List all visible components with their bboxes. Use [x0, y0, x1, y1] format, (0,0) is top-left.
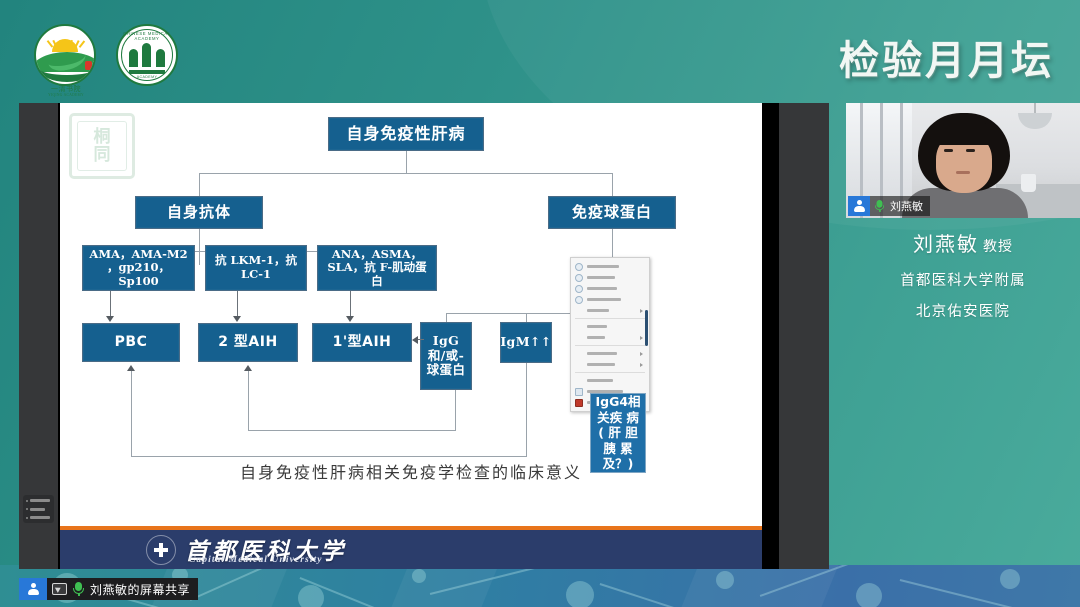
- chevron-right-icon: [640, 352, 643, 356]
- screen-share-window: 桐 同 自身免疫性肝病 自身抗体 免疫球蛋白 AMA，AMA-M2 ，gp210…: [19, 103, 829, 569]
- list-icon[interactable]: [23, 495, 54, 523]
- yiqing-academy-logo-icon: 一清书院 YIQING ACADEMY: [30, 24, 102, 98]
- connector: [199, 251, 200, 265]
- connector: [131, 371, 132, 456]
- menu-scrollbar[interactable]: [645, 310, 648, 346]
- blank-icon: [575, 350, 583, 358]
- speaker-affiliation-line2: 北京佑安医院: [846, 300, 1080, 321]
- screen-share-status-bar: 刘燕敏的屏幕共享: [19, 578, 198, 600]
- connector: [237, 291, 238, 318]
- chevron-right-icon: [640, 363, 643, 367]
- slide-caption: 自身免疫性肝病相关免疫学检查的临床意义: [60, 459, 762, 483]
- flow-node-immunoglobulin: 免疫球蛋白: [548, 196, 676, 229]
- slide-footer: 首都医科大学 Capital Medical University: [60, 526, 762, 569]
- logo-group: 一清书院 YIQING ACADEMY CHINESE MEDICAL ACAD…: [30, 24, 178, 98]
- connector: [199, 173, 612, 174]
- shape-icon: [575, 296, 583, 304]
- context-menu-item[interactable]: [571, 283, 649, 294]
- connector: [248, 371, 249, 430]
- page-header: 一清书院 YIQING ACADEMY CHINESE MEDICAL ACAD…: [0, 0, 1080, 100]
- context-menu-item[interactable]: [571, 321, 649, 332]
- medical-logo-arc-text: CHINESE MEDICAL ACADEMY: [116, 31, 178, 41]
- connector: [199, 229, 200, 251]
- hyperlink-icon: [575, 388, 583, 396]
- format-shape-icon: [575, 399, 583, 407]
- video-name-badge: 刘燕敏: [848, 196, 930, 216]
- speaker-name: 刘燕敏: [913, 232, 979, 256]
- connector: [110, 291, 111, 318]
- context-menu-item[interactable]: [571, 261, 649, 272]
- flow-node-antibody-2: 抗 LKM-1，抗 LC-1: [205, 245, 307, 291]
- share-status-label-group: 刘燕敏的屏幕共享: [47, 578, 198, 600]
- arrow-icon: [233, 316, 241, 322]
- context-menu-item[interactable]: [571, 348, 649, 359]
- context-menu-item[interactable]: [571, 272, 649, 283]
- presentation-slide: 桐 同 自身免疫性肝病 自身抗体 免疫球蛋白 AMA，AMA-M2 ，gp210…: [60, 103, 762, 569]
- context-menu-item[interactable]: [571, 294, 649, 305]
- chevron-right-icon: [640, 336, 643, 340]
- participant-badge[interactable]: [19, 578, 47, 600]
- medical-academy-logo-icon: CHINESE MEDICAL ACADEMY ACADEMY: [116, 24, 178, 86]
- footer-university-en: Capital Medical University: [189, 555, 323, 565]
- connector: [418, 339, 424, 340]
- shape-icon: [575, 274, 583, 282]
- medical-logo-caption-en: ACADEMY: [116, 75, 178, 79]
- menu-separator: [575, 318, 645, 319]
- flow-node-diagnosis-pbc: PBC: [82, 323, 180, 362]
- yiqing-logo-caption-en: YIQING ACADEMY: [30, 94, 102, 98]
- flow-node-igm: IgM↑↑: [500, 322, 552, 363]
- capital-medical-university-logo-icon: [146, 535, 176, 565]
- flow-node-diagnosis-aih1: 1'型AIH: [312, 323, 412, 362]
- blank-icon: [575, 377, 583, 385]
- seal-glyph-1: 桐: [94, 129, 111, 146]
- menu-separator: [575, 345, 645, 346]
- participant-badge-icon: [848, 196, 870, 216]
- video-cup: [1021, 174, 1036, 192]
- video-badge-name: 刘燕敏: [890, 198, 923, 214]
- person-icon: [853, 200, 866, 213]
- flow-node-autoantibody: 自身抗体: [135, 196, 263, 229]
- connector: [526, 363, 527, 456]
- speaker-affiliation-line1: 首都医科大学附属: [846, 269, 1080, 290]
- context-menu-item[interactable]: [571, 332, 649, 343]
- connector: [248, 430, 456, 431]
- arrow-icon: [244, 365, 252, 371]
- webinar-screen: 一清书院 YIQING ACADEMY CHINESE MEDICAL ACAD…: [0, 0, 1080, 607]
- flow-node-antibody-3: ANA，ASMA，SLA，抗 F-肌动蛋白: [317, 245, 437, 291]
- screen-share-status-text: 刘燕敏的屏幕共享: [90, 581, 190, 598]
- blank-icon: [575, 334, 583, 342]
- brand-title: 检验月月坛: [839, 28, 1054, 86]
- microphone-icon[interactable]: [73, 582, 84, 596]
- screen-share-icon: [52, 583, 67, 595]
- arrow-icon: [412, 336, 418, 344]
- speaker-video-tile[interactable]: 刘燕敏: [846, 103, 1080, 218]
- flow-node-antibody-1: AMA，AMA-M2 ，gp210，Sp100: [82, 245, 195, 291]
- chevron-right-icon: [640, 309, 643, 313]
- arrow-icon: [346, 316, 354, 322]
- flow-node-root: 自身免疫性肝病: [328, 117, 484, 151]
- blank-icon: [575, 323, 583, 331]
- connector: [350, 291, 351, 318]
- blank-icon: [575, 307, 583, 315]
- context-menu-item[interactable]: [571, 305, 649, 316]
- arrow-icon: [106, 316, 114, 322]
- connector: [612, 173, 613, 196]
- flow-node-igg: IgG 和/或-球蛋白: [420, 322, 472, 390]
- context-menu-item[interactable]: [571, 359, 649, 370]
- video-person-head: [918, 113, 1010, 218]
- microphone-icon[interactable]: [875, 200, 884, 212]
- shape-icon: [575, 263, 583, 271]
- connector: [406, 151, 407, 173]
- context-menu-item[interactable]: [571, 375, 649, 386]
- arrow-icon: [127, 365, 135, 371]
- decorative-seal-icon: 桐 同: [69, 113, 135, 179]
- speaker-title: 教授: [983, 239, 1013, 255]
- connector: [199, 173, 200, 196]
- blank-icon: [575, 361, 583, 369]
- seal-glyph-2: 同: [94, 147, 111, 164]
- footer-orange-rule: [60, 526, 762, 530]
- connector: [455, 390, 456, 430]
- share-window-right-rail: [779, 103, 829, 569]
- menu-separator: [575, 372, 645, 373]
- powerpoint-context-menu[interactable]: [570, 257, 650, 412]
- connector: [131, 456, 527, 457]
- person-icon: [27, 583, 40, 596]
- share-window-left-rail: [19, 103, 58, 569]
- speaker-info: 刘燕敏教授 首都医科大学附属 北京佑安医院: [846, 228, 1080, 331]
- shape-icon: [575, 285, 583, 293]
- flow-node-diagnosis-aih2: 2 型AIH: [198, 323, 298, 362]
